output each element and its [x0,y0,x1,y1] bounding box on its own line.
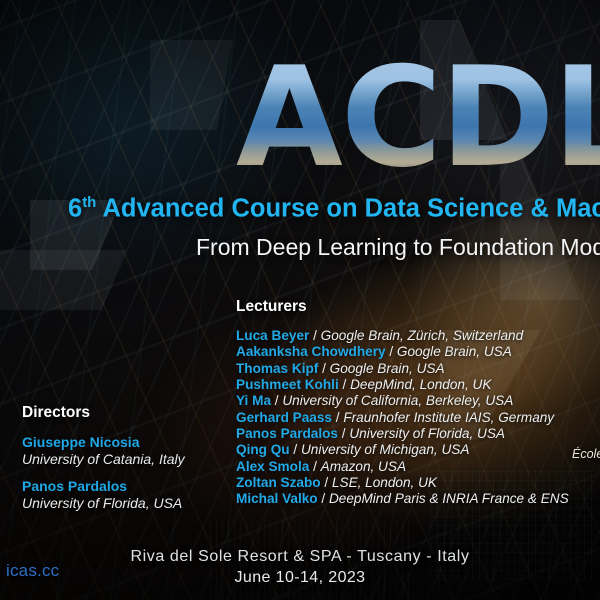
icas-logo[interactable]: icas.cc [6,561,59,581]
lecturer-affiliation: Amazon, USA [321,459,406,474]
lecturer-affiliation: University of Michigan, USA [301,442,469,457]
course-ordinal-number: 6 [68,195,82,223]
acdl-wordmark-text: ACDL [236,49,600,187]
lecturer-affiliation: Google Brain, USA [397,344,512,359]
lecturer-affiliation: Fraunhofer Institute IAIS, Germany [343,410,554,425]
lecturer-name: Michal Valko [236,491,318,506]
page-subtitle: From Deep Learning to Foundation Models [196,234,600,261]
director-name: Giuseppe Nicosia [22,434,227,451]
lecturer-separator: / [321,475,332,490]
lecturer-row: Aakanksha Chowdhery / Google Brain, USA [236,344,600,360]
lecturer-row: Yi Ma / University of California, Berkel… [236,393,600,409]
lecturer-affiliation: DeepMind, London, UK [350,377,491,392]
director-affiliation: University of Florida, USA [22,495,227,512]
lecturer-separator: / [290,442,301,457]
lecturer-name: Gerhard Paass [236,410,332,425]
lecturer-row: Gerhard Paass / Fraunhofer Institute IAI… [236,410,600,426]
lecturer-name: Zoltan Szabo [236,475,321,490]
partner-affiliation-clipped: École [572,447,600,461]
venue-text: Riva del Sole Resort & SPA - Tuscany - I… [0,546,600,567]
lecturer-name: Alex Smola [236,459,309,474]
lecturer-affiliation: Google Brain, USA [330,361,445,376]
page-title: 6th Advanced Course on Data Science & Ma… [68,194,600,224]
lecturer-row: Zoltan Szabo / LSE, London, UK [236,475,600,491]
lecturers-heading: Lecturers [236,298,600,316]
lecturer-row: Pushmeet Kohli / DeepMind, London, UK [236,377,600,393]
lecturer-name: Qing Qu [236,442,290,457]
lecturer-name: Pushmeet Kohli [236,377,339,392]
lecturer-separator: / [318,491,329,506]
director-entry: Panos Pardalos University of Florida, US… [22,478,227,511]
lecturer-row: Michal Valko / DeepMind Paris & INRIA Fr… [236,491,600,507]
lecturer-name: Yi Ma [236,393,271,408]
course-title-rest: Advanced Course on Data Science & Machin… [96,195,600,223]
lecturer-separator: / [332,410,343,425]
lecturer-affiliation: University of Florida, USA [349,426,505,441]
director-name: Panos Pardalos [22,478,227,495]
lecturer-row: Thomas Kipf / Google Brain, USA [236,361,600,377]
lecturer-separator: / [318,361,329,376]
lecturer-row: Luca Beyer / Google Brain, Zürich, Switz… [236,328,600,344]
course-ordinal-suffix: th [82,194,96,211]
director-affiliation: University of Catania, Italy [22,451,227,468]
lecturer-separator: / [309,459,320,474]
lecturer-name: Luca Beyer [236,328,309,343]
lecturer-separator: / [339,377,350,392]
directors-heading: Directors [22,404,227,422]
director-entry: Giuseppe Nicosia University of Catania, … [22,434,227,467]
lecturer-row: Panos Pardalos / University of Florida, … [236,426,600,442]
lecturer-separator: / [271,393,282,408]
lecturer-name: Thomas Kipf [236,361,318,376]
directors-section: Directors Giuseppe Nicosia University of… [22,404,227,522]
lecturer-affiliation: DeepMind Paris & INRIA France & ENS [329,491,569,506]
lecturer-affiliation: University of California, Berkeley, USA [282,393,513,408]
lecturer-name: Panos Pardalos [236,426,338,441]
lecturer-row: Alex Smola / Amazon, USA [236,459,600,475]
lecturer-separator: / [386,344,397,359]
lecturer-separator: / [338,426,349,441]
lecturer-name: Aakanksha Chowdhery [236,344,386,359]
lecturer-row: Qing Qu / University of Michigan, USA [236,442,600,458]
conference-poster: ACDL 6th Advanced Course on Data Science… [0,0,600,600]
acdl-wordmark: ACDL [236,52,600,184]
footer: Riva del Sole Resort & SPA - Tuscany - I… [0,546,600,588]
lecturer-affiliation: Google Brain, Zürich, Switzerland [321,328,524,343]
lecturer-affiliation: LSE, London, UK [332,475,437,490]
lecturer-separator: / [309,328,320,343]
dates-text: June 10-14, 2023 [0,567,600,588]
lecturers-section: Lecturers Luca Beyer / Google Brain, Zür… [236,298,600,508]
